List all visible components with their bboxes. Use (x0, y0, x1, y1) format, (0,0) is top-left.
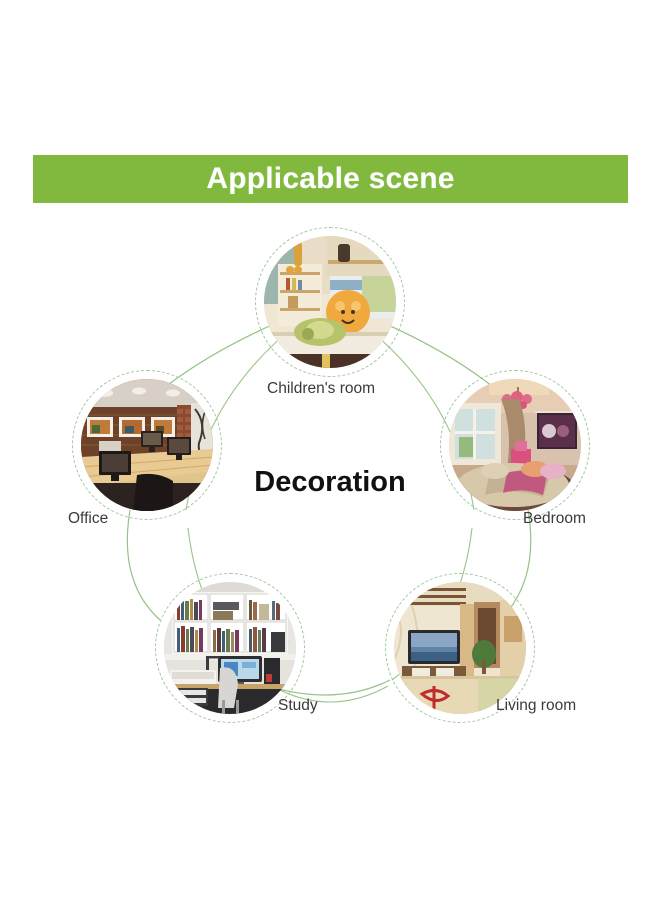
page-title: Applicable scene (206, 162, 454, 196)
banner: Applicable scene (33, 155, 628, 203)
living-room-photo (394, 582, 526, 714)
scene-label-livingroom: Living room (496, 697, 576, 715)
scene-label-children: Children's room (267, 380, 375, 398)
scene-node-children[interactable] (255, 227, 405, 377)
scene-label-study: Study (278, 697, 318, 715)
childrens-room-photo (264, 236, 396, 368)
applicable-scene-infographic: Applicable scene (0, 0, 660, 900)
scene-label-bedroom: Bedroom (523, 510, 586, 528)
center-label: Decoration (0, 466, 660, 499)
scene-diagram: Children's room (0, 210, 660, 770)
study-room-photo (164, 582, 296, 714)
scene-label-office: Office (68, 510, 108, 528)
